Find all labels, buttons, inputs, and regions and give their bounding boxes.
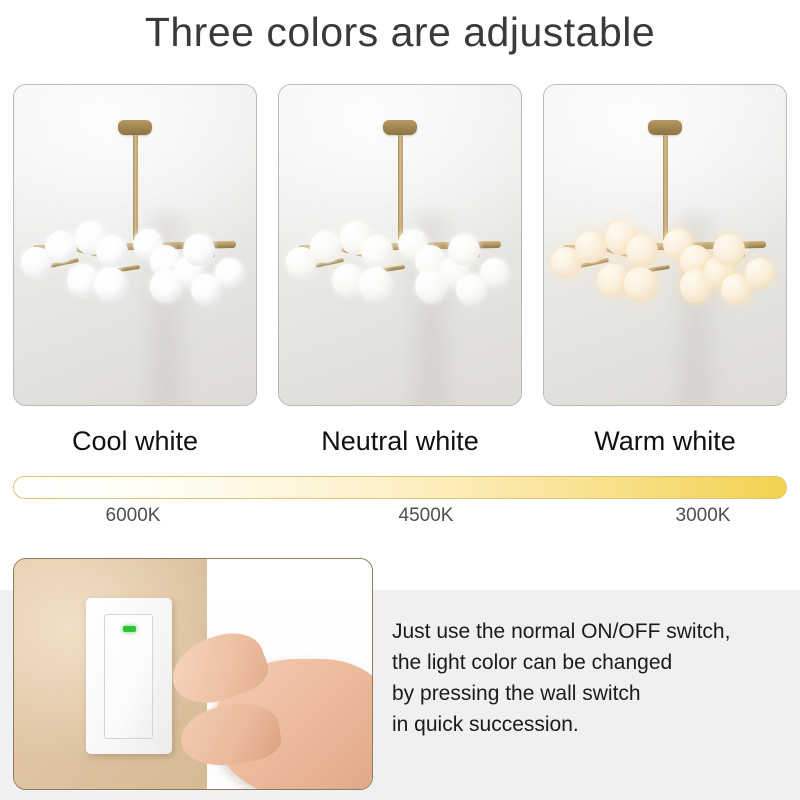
drop-rod bbox=[398, 135, 403, 241]
glass-globe bbox=[215, 258, 244, 287]
panel-warm-white bbox=[543, 84, 787, 406]
ceiling-canopy bbox=[383, 120, 417, 135]
instruction-line-2: the light color can be changed bbox=[392, 647, 792, 678]
glass-globe bbox=[310, 231, 341, 263]
temperature-label-3000k: 3000K bbox=[676, 503, 731, 529]
glass-globe bbox=[624, 267, 657, 301]
glass-globe bbox=[480, 258, 509, 287]
drop-rod bbox=[663, 135, 668, 241]
chandelier-neutral-white bbox=[279, 85, 521, 405]
temperature-label-4500k: 4500K bbox=[399, 503, 454, 529]
glass-globe bbox=[448, 234, 479, 266]
page-title: Three colors are adjustable bbox=[0, 4, 800, 60]
status-led-icon bbox=[123, 626, 136, 632]
color-panels bbox=[13, 84, 787, 406]
glass-globe bbox=[626, 235, 657, 267]
caption-warm-white: Warm white bbox=[543, 420, 787, 462]
glass-globe bbox=[575, 231, 606, 263]
caption-cool-white: Cool white bbox=[13, 420, 257, 462]
glass-globe bbox=[361, 235, 392, 267]
panel-cool-white bbox=[13, 84, 257, 406]
glass-globe bbox=[45, 231, 76, 263]
glass-globe bbox=[183, 234, 214, 266]
hand-pressing-switch bbox=[157, 628, 373, 790]
drop-rod bbox=[133, 135, 138, 241]
instruction-line-4: in quick succession. bbox=[392, 709, 792, 740]
chandelier-cool-white bbox=[14, 85, 256, 405]
glass-globe bbox=[713, 234, 744, 266]
glass-globe bbox=[96, 235, 127, 267]
caption-neutral-white: Neutral white bbox=[278, 420, 522, 462]
panel-neutral-white bbox=[278, 84, 522, 406]
color-temperature-bar bbox=[13, 476, 787, 499]
instruction-text: Just use the normal ON/OFF switch, the l… bbox=[392, 616, 792, 740]
wall-switch-photo bbox=[13, 558, 373, 790]
glass-globe bbox=[359, 267, 392, 301]
switch-rocker bbox=[104, 614, 152, 739]
instruction-line-1: Just use the normal ON/OFF switch, bbox=[392, 616, 792, 647]
glass-globe bbox=[94, 267, 127, 301]
chandelier-warm-white bbox=[544, 85, 786, 405]
glass-globe bbox=[745, 258, 774, 287]
instruction-line-3: by pressing the wall switch bbox=[392, 678, 792, 709]
ceiling-canopy bbox=[648, 120, 682, 135]
temperature-label-6000k: 6000K bbox=[106, 503, 161, 529]
color-temperature-labels: 6000K 4500K 3000K bbox=[13, 503, 787, 529]
panel-captions: Cool white Neutral white Warm white bbox=[13, 420, 787, 462]
ceiling-canopy bbox=[118, 120, 152, 135]
